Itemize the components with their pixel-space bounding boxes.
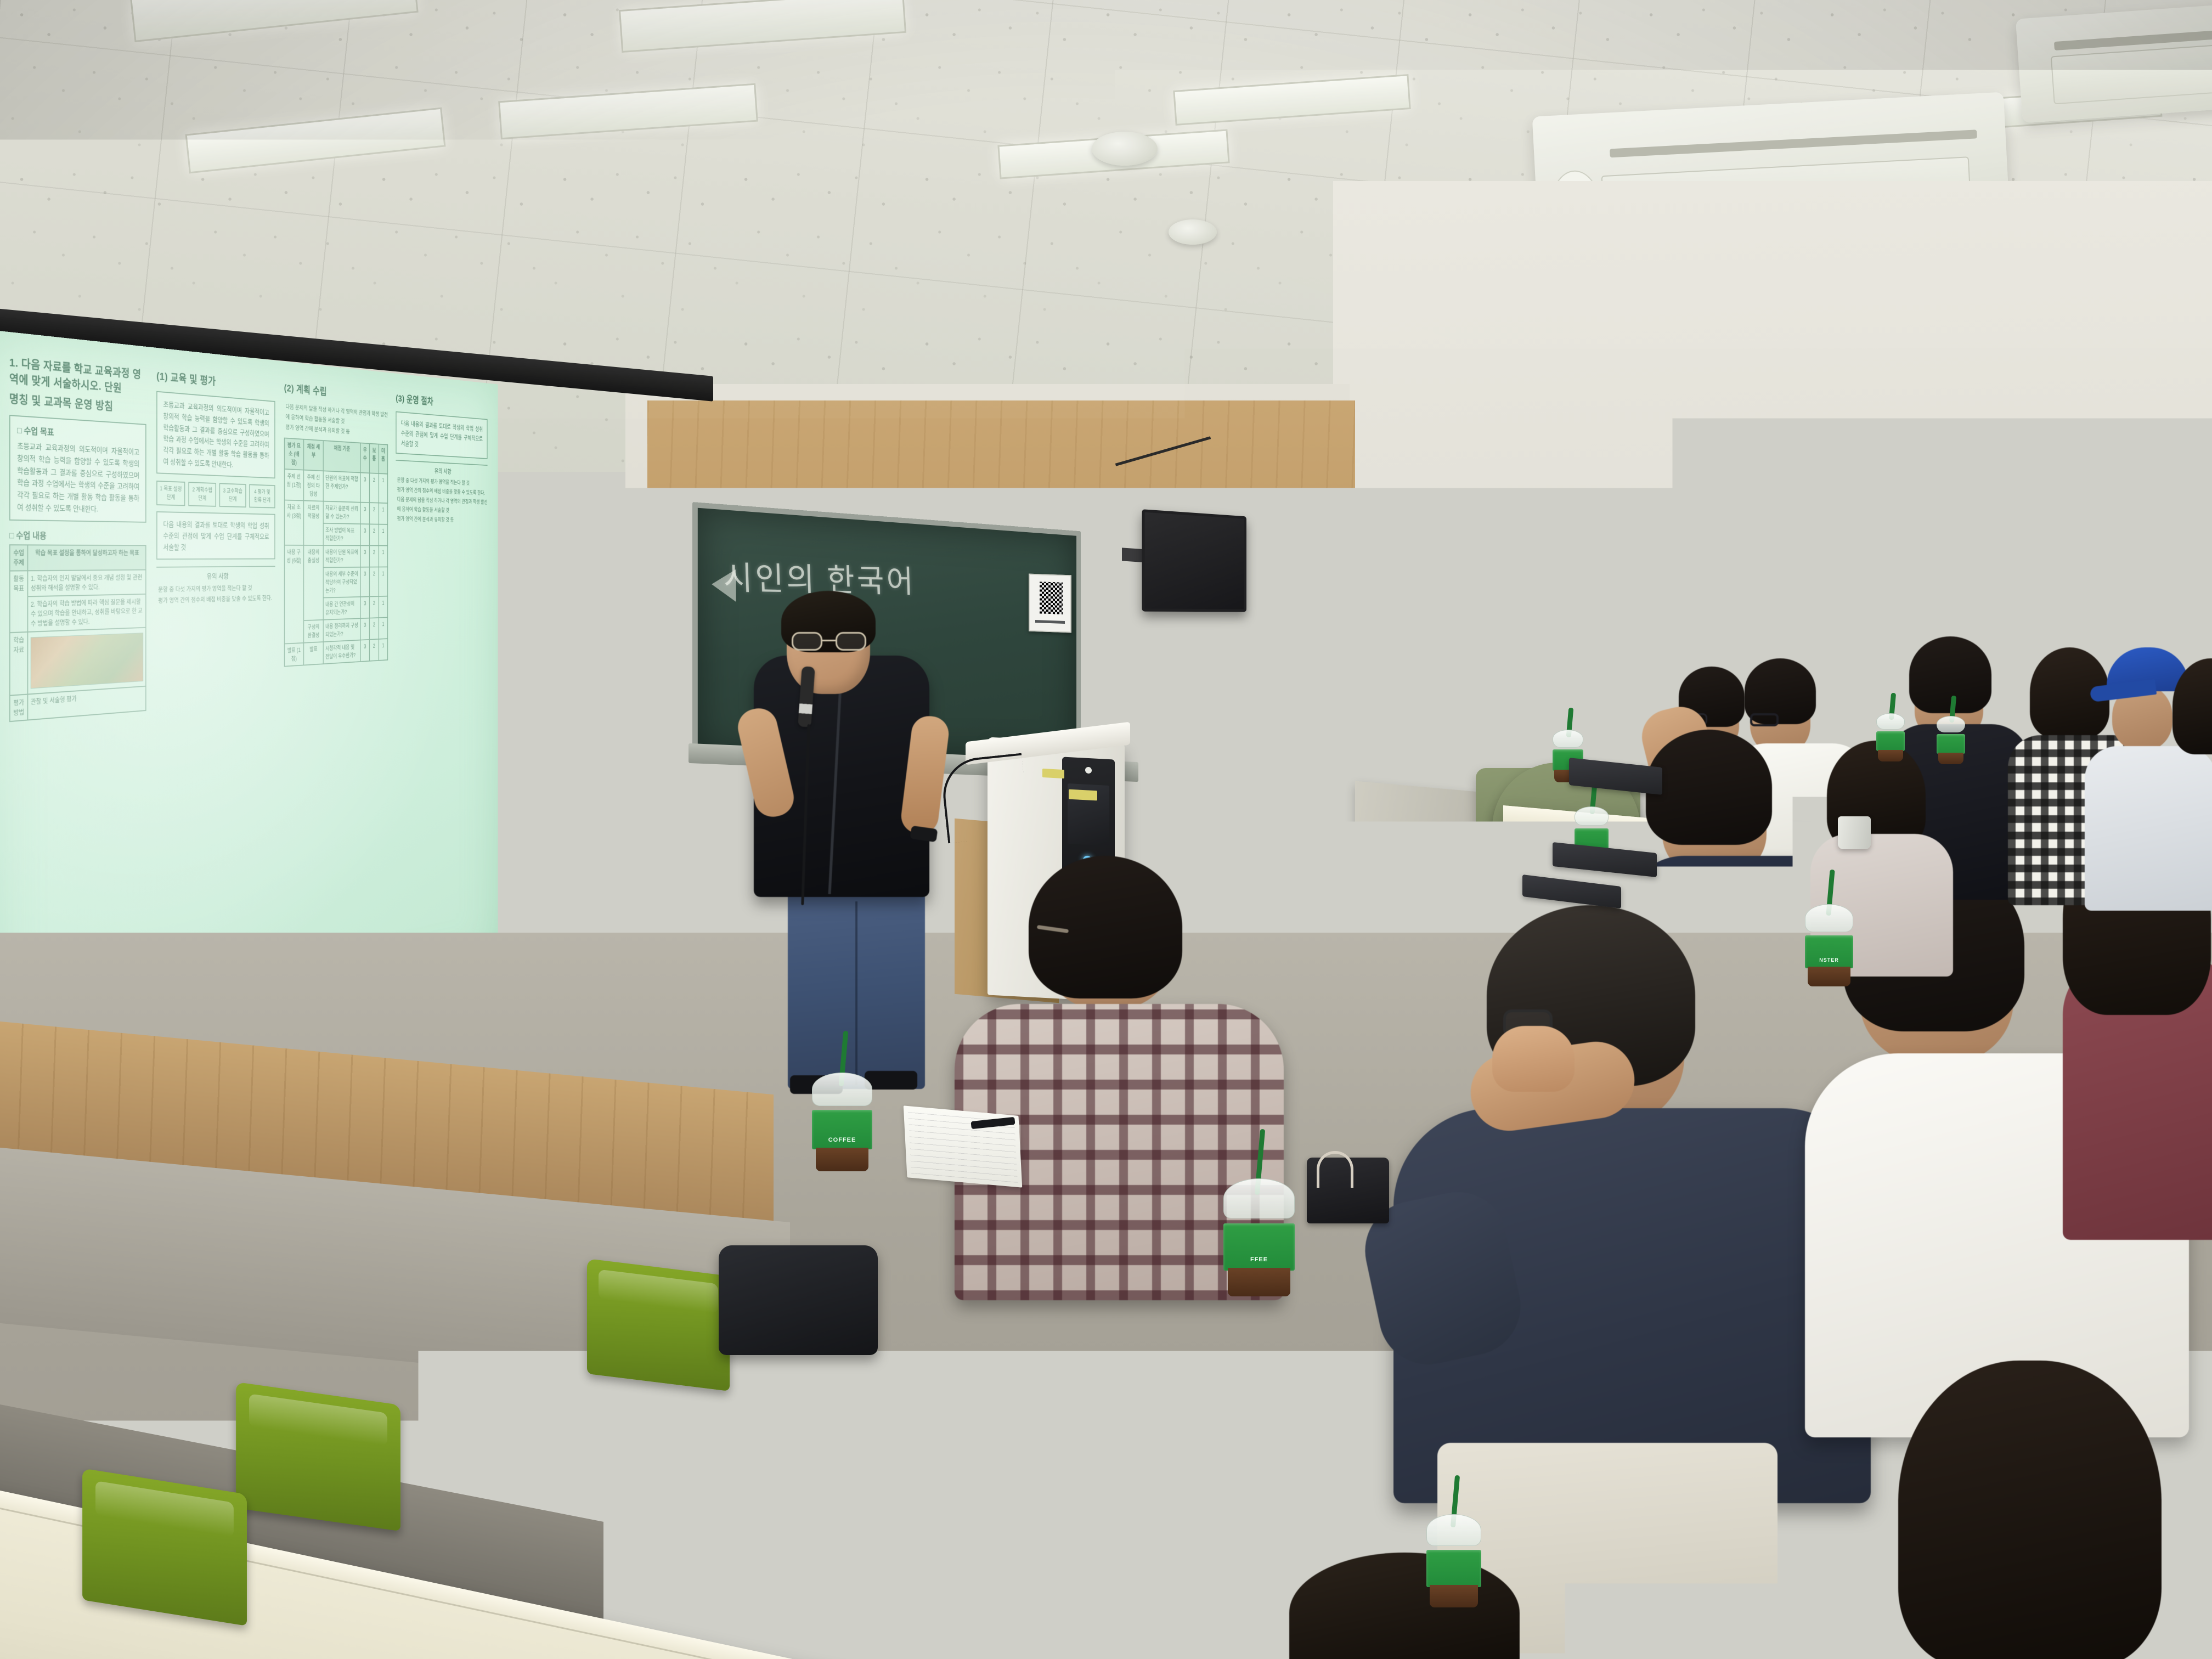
rubric-r1-c4: 2: [370, 503, 379, 524]
coffee-cup-front-left[interactable]: COFFEE: [812, 1073, 872, 1171]
cup-sleeve-label: COFFEE: [814, 1137, 870, 1143]
rubric-r2-c5: 1: [379, 524, 387, 546]
panel-icon-left: [1498, 702, 1512, 716]
cup-sleeve: [1937, 734, 1965, 753]
tumbler-back-desk[interactable]: [1838, 816, 1871, 849]
table1-header-0: 수업 주제: [10, 545, 28, 571]
ac-louver: [1610, 129, 1978, 157]
lectern-label-1: [1069, 789, 1097, 801]
table-row: 내용 구성 (6점) 내용의 충실성 내용이 단원 목표에 적합한가? 3 2 …: [284, 545, 387, 568]
stage-card-1: 1 목표 설정 단계: [156, 481, 185, 506]
stage-card-3: 3 교수학습 단계: [219, 483, 246, 508]
rubric-r2-c2: 조사 방법이 목표 적합한가?: [323, 523, 360, 546]
glasses-lens-right: [836, 632, 866, 651]
rubric-r5-c2: 내용 간 연관성이 유지되는가?: [323, 597, 360, 620]
slide-stage-cards: 1 목표 설정 단계 2 계획수립 단계 3 교수학습 단계 4 평가 및 환류…: [156, 481, 275, 508]
note-item: 평가 영역 간에 분석과 유의할 것 등: [397, 515, 488, 526]
slide-col4-notes-title: 유의 사항: [396, 460, 487, 477]
slide-col2-text: 초등교과 교육과정의 의도적이며 자율적이고 창의적 학습 능력을 함양할 수 …: [163, 399, 269, 472]
slide-aim-box: □ 수업 목표 초등교과 교육과정의 의도적이며 자율적이고 창의적 학습 능력…: [9, 415, 146, 523]
slide-col2-heading: (1) 교육 및 평가: [156, 369, 275, 394]
cup-sleeve: [1426, 1550, 1481, 1587]
coffee-cup-bottom-center[interactable]: [1426, 1514, 1481, 1607]
table1-r0-c1: 1. 학습자의 인지 발달에서 중요 개념 설정 및 관련 성취와 해석을 설명…: [28, 570, 146, 597]
chair-front-1[interactable]: [236, 1382, 400, 1531]
navy-polo-hand: [1492, 1026, 1575, 1092]
rubric-r1-c1: 자료의 적절성: [303, 501, 323, 546]
rubric-r3-c4: 2: [370, 546, 379, 567]
table-row: 주제 선정 (1점) 주제 선정의 타당성 단원의 목표에 적합한 주제인가? …: [284, 469, 387, 503]
stage-card-2: 2 계획수립 단계: [188, 482, 216, 507]
cup-lid: [1937, 716, 1965, 732]
rubric-r5-c5: 1: [379, 596, 387, 618]
chair-mid-1[interactable]: [587, 1259, 730, 1391]
rubric-r5-c3: 3: [360, 597, 370, 619]
cup-liquid: [1808, 967, 1850, 986]
table1-r3-c0: 평가 방법: [10, 695, 28, 722]
slide-col4-notes: 문항 중 다섯 가지의 평가 영역을 적는다 할 것 평가 영역 간의 점수의 …: [396, 476, 487, 526]
table1-r2-c0: 학습 자료: [10, 632, 28, 696]
rubric-r0-c5: 1: [379, 473, 387, 503]
presenter-legs: [788, 881, 925, 1089]
rubric-header-3: 우수: [360, 443, 370, 473]
panel-icon-right: [1521, 657, 1535, 672]
cup-liquid: [1228, 1268, 1290, 1296]
slide-aim-text: 초등교과 교육과정의 의도적이며 자율적이고 창의적 학습 능력을 함양할 수 …: [17, 440, 139, 516]
slide-notes-title: 유의 사항: [156, 566, 275, 582]
table1-r1-c1: 2. 학습자의 학습 방법에 따라 핵심 질문을 제시할 수 있으며 학습을 안…: [28, 594, 146, 632]
cup-liquid: [1430, 1585, 1478, 1607]
rubric-r7-c0: 발표 (1점): [284, 643, 303, 667]
blue-cap-body: [2085, 746, 2212, 911]
rubric-header-2: 채점 기준: [323, 441, 360, 472]
rubric-r6-c5: 1: [379, 617, 387, 639]
cup-sleeve: NSTER: [1805, 935, 1853, 968]
rubric-r7-c5: 1: [379, 639, 387, 661]
rubric-r7-c4: 2: [370, 639, 379, 661]
ac-panel: [2051, 44, 2212, 104]
rubric-r1-c3: 3: [360, 503, 370, 524]
slide-photo-thumbnail: [31, 633, 143, 689]
table1-r0-c0: 활동 목표: [10, 571, 28, 633]
cup-lid: [1876, 713, 1905, 730]
foreground-hair-2: [1624, 1509, 1909, 1659]
rubric-r6-c1: 구성의 완결성: [303, 620, 323, 643]
cup-lid: [1426, 1514, 1481, 1546]
table-row: 자료 조사 (3점) 자료의 적절성 자료가 충분히 신뢰할 수 있는가? 3 …: [284, 500, 387, 524]
panel-icon-right: [1520, 702, 1534, 716]
qr-poster-caption: [1035, 620, 1065, 624]
wall-notice-panel-2: [1491, 690, 1541, 724]
cup-lid: [812, 1073, 872, 1106]
cup-liquid: [1938, 753, 1963, 764]
qr-code-icon: [1040, 582, 1063, 614]
cup-sleeve-label: NSTER: [1807, 957, 1852, 963]
cup-liquid: [816, 1148, 869, 1171]
lectern-camera-icon: [1085, 767, 1092, 774]
rubric-r1-c0: 자료 조사 (3점): [284, 500, 303, 545]
note-item: 다음 문제의 답을 작성 하거나 각 영역의 관점과 학생 발전에 응하여 학습…: [397, 495, 488, 517]
slide-col3-heading: (2) 계획 수립: [284, 381, 388, 405]
wall-notice-panel-1: [1492, 643, 1543, 680]
panel-header-bar: [1497, 647, 1538, 652]
rubric-r0-c4: 2: [370, 473, 379, 503]
glasses-lens-left: [792, 632, 822, 651]
rubric-r4-c2: 내용의 세부 수준이 적당하여 구성되었는가?: [323, 567, 360, 598]
slide-col4-text: 다음 내용의 결과를 토대로 학생의 학업 성취 수준의 관점에 맞게 수업 단…: [401, 418, 483, 453]
notebook-lines: [1440, 1209, 1561, 1271]
rubric-r3-c5: 1: [379, 546, 387, 567]
rubric-header-5: 미흡: [379, 444, 387, 474]
table-row: 발표 (1점) 발표 시청각적 내용 및 전달이 우수한가? 3 2 1: [284, 639, 387, 667]
cup-lid: [1575, 806, 1609, 826]
slide-col2-box-2: 다음 내용의 결과를 토대로 학생의 학업 성취 수준의 관점에 맞게 수업 단…: [156, 511, 275, 560]
rubric-r2-c3: 3: [360, 524, 370, 545]
coffee-cup-back-3[interactable]: [1937, 716, 1965, 764]
rubric-header-0: 평가 요소 (배점): [284, 438, 303, 470]
chair-front-2[interactable]: [82, 1468, 247, 1626]
rubric-r6-c2: 내용 정리까지 구성되었는가?: [323, 618, 360, 642]
table-row: 2. 학습자의 학습 방법에 따라 핵심 질문을 제시할 수 있으며 학습을 안…: [10, 594, 146, 633]
rubric-r6-c3: 3: [360, 618, 370, 640]
coffee-cup-back-2[interactable]: [1876, 713, 1905, 761]
snack-package[interactable]: [1314, 1290, 1434, 1349]
slide-column-4: (3) 운영 절차 다음 내용의 결과를 토대로 학생의 학업 성취 수준의 관…: [396, 392, 487, 979]
cup-lid: [1553, 730, 1583, 748]
rubric-r7-c1: 발표: [303, 642, 323, 665]
slide-table-1: 수업 주제 학습 목표 설정을 통하여 달성하고자 하는 목표 활동 목표 1.…: [9, 545, 146, 723]
table-row: 학습 자료: [10, 628, 146, 696]
rubric-r1-c5: 1: [379, 503, 387, 524]
rubric-r0-c3: 3: [360, 473, 370, 503]
slide-rubric-table: 평가 요소 (배점) 채점 세부 채점 기준 우수 보통 미흡 주제 선정 (1…: [284, 438, 388, 667]
cup-sleeve: COFFEE: [812, 1110, 872, 1149]
rubric-r3-c3: 3: [360, 545, 370, 567]
rubric-r4-c5: 1: [379, 567, 387, 596]
rubric-r0-c0: 주제 선정 (1점): [284, 469, 303, 501]
cup-lid: [1805, 904, 1853, 932]
rubric-r3-c0: 내용 구성 (6점): [284, 545, 303, 644]
rubric-header-1: 채점 세부: [303, 439, 323, 471]
cup-liquid: [1878, 750, 1903, 761]
coffee-cup-front-right[interactable]: FFEE: [1223, 1178, 1295, 1296]
slide-column-3: (2) 계획 수립 다음 문제의 답을 작성 하거나 각 영역의 관점과 학생 …: [284, 381, 388, 1008]
slide-notes-list: 문항 중 다섯 가지의 평가 영역을 적는다 할 것 평가 영역 간의 점수의 …: [156, 583, 275, 607]
cup-lid: [1223, 1178, 1295, 1218]
table1-r2-c1: [28, 628, 146, 695]
rubric-header-4: 보통: [370, 444, 379, 474]
wall-tv-monitor: [1142, 509, 1246, 612]
ceiling-ac-unit-2: [2016, 3, 2212, 123]
stage-card-4: 4 평가 및 환류 단계: [249, 484, 275, 509]
lecture-hall-photo: 시인의 한국어 소화기 12 11 10 8: [0, 0, 2212, 1659]
note-item: 평가 영역 간의 점수의 배점 비중을 맞출 수 있도록 한다.: [158, 594, 275, 607]
slide-col4-heading: (3) 운영 절차: [396, 392, 487, 413]
rubric-r3-c1: 내용의 충실성: [303, 545, 323, 620]
notebook-purple[interactable]: [1606, 1029, 1680, 1073]
student-hair: [1909, 636, 1991, 713]
rubric-r0-c1: 주제 선정의 타당성: [303, 470, 323, 501]
rubric-r3-c2: 내용이 단원 목표에 적합한가?: [323, 545, 360, 567]
rubric-r6-c4: 2: [370, 618, 379, 640]
slide-col2-text-2: 다음 내용의 결과를 토대로 학생의 학업 성취 수준의 관점에 맞게 수업 단…: [163, 519, 269, 553]
rubric-r1-c2: 자료가 충분히 신뢰할 수 있는가?: [323, 501, 360, 524]
rubric-r4-c4: 2: [370, 567, 379, 597]
cup-sleeve: FFEE: [1223, 1223, 1295, 1271]
slide-content-label: □ 수업 내용: [9, 528, 146, 542]
jersey-hair: [1646, 730, 1772, 845]
slide-col3-notes: 다음 문제의 답을 작성 하거나 각 영역의 관점과 학생 발전에 응하여 학습…: [284, 402, 388, 440]
jersey-brand-text: [1717, 1004, 1794, 1020]
fire-extinguisher-sign: 소화기: [1402, 696, 1434, 725]
rubric-r5-c4: 2: [370, 596, 379, 618]
table-row: 활동 목표 1. 학습자의 인지 발달에서 중요 개념 설정 및 관련 성취와 …: [10, 570, 146, 597]
rubric-r0-c2: 단원의 목표에 적합한 주제인가?: [323, 471, 360, 502]
slide-aim-label: □ 수업 목표: [17, 423, 139, 443]
rubric-r7-c2: 시청각적 내용 및 전달이 우수한가?: [323, 640, 360, 664]
backpack-on-floor[interactable]: [719, 1245, 878, 1355]
glasses-bridge: [822, 640, 836, 641]
lectern-label-3: [1042, 769, 1064, 778]
presenter-shoe-right: [865, 1071, 917, 1090]
panel-icon-left: [1500, 657, 1514, 672]
slide-col2-box: 초등교과 교육과정의 의도적이며 자율적이고 창의적 학습 능력을 함양할 수 …: [156, 391, 275, 479]
coffee-cup-mid-right[interactable]: NSTER: [1805, 904, 1853, 986]
cup-sleeve: [1876, 731, 1905, 751]
rubric-r2-c4: 2: [370, 524, 379, 545]
slide-col4-box: 다음 내용의 결과를 토대로 학생의 학업 성취 수준의 관점에 맞게 수업 단…: [396, 411, 487, 459]
smoke-detector-icon-2: [1169, 219, 1217, 245]
rubric-r7-c3: 3: [360, 640, 370, 662]
rubric-r4-c3: 3: [360, 567, 370, 597]
long-hair: [1898, 1361, 2162, 1659]
smoke-detector-icon: [1092, 132, 1158, 166]
black-pouch[interactable]: [1307, 1158, 1389, 1223]
table1-header-1: 학습 목표 설정을 통하여 달성하고자 하는 목표: [28, 545, 146, 571]
student-glasses-icon: [1750, 713, 1779, 726]
qr-code-poster: [1029, 574, 1071, 633]
cup-sleeve-label: FFEE: [1226, 1256, 1292, 1263]
presenter-glasses-icon: [792, 632, 866, 651]
